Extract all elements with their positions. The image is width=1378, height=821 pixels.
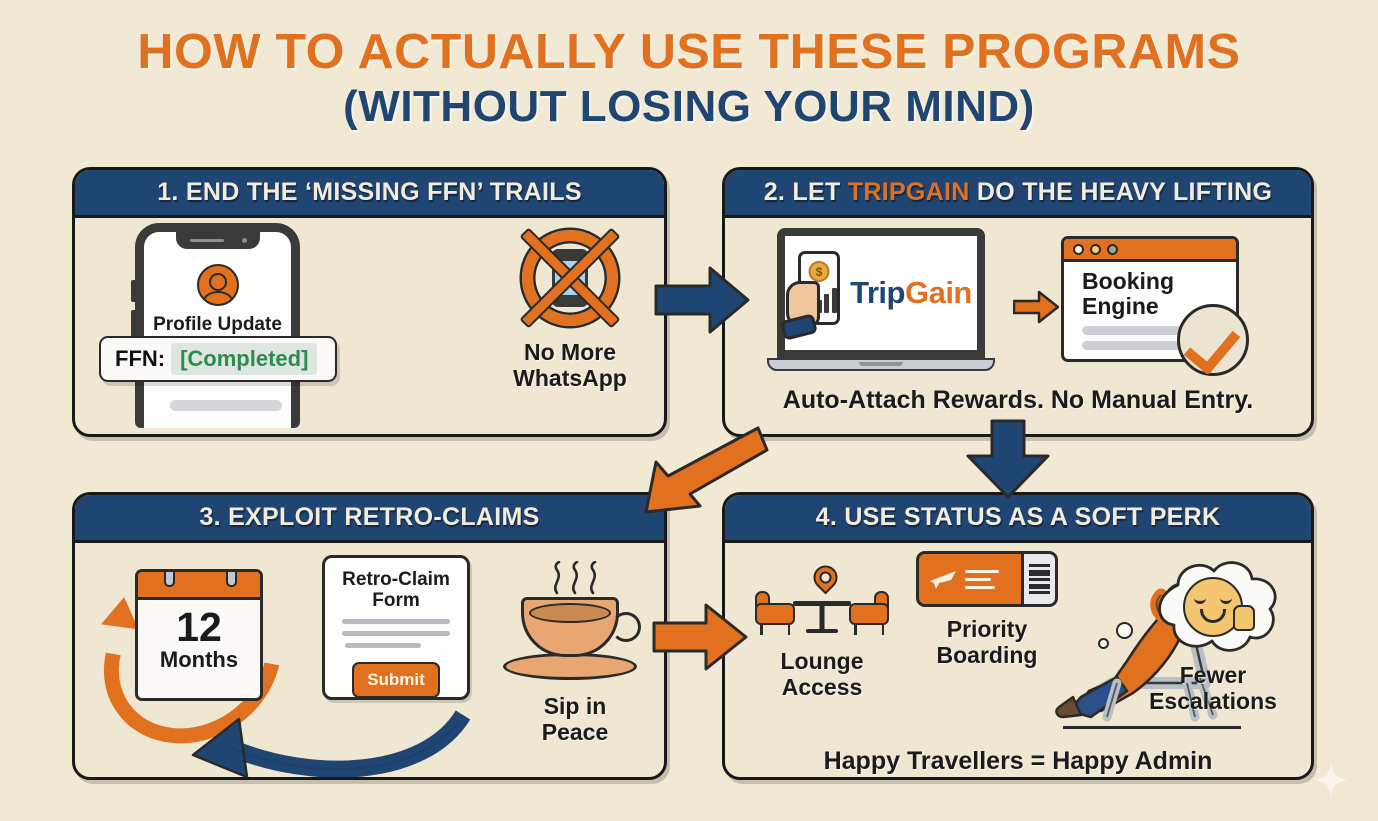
- lounge-icon: [747, 557, 897, 649]
- panel-4-use-status-as-soft-perk[interactable]: 4. USE STATUS AS A SOFT PERK: [722, 492, 1314, 780]
- tripgain-logo-trip: Trip: [850, 275, 905, 310]
- arrow-panel1-to-panel2: [652, 262, 752, 338]
- fewer-escalations-label: Fewer Escalations: [1129, 663, 1297, 715]
- ffn-field-value: [Completed]: [171, 343, 317, 375]
- boarding-pass-icon: [916, 551, 1058, 607]
- steam-icon: [545, 561, 605, 595]
- chair-leg-right-b: [882, 624, 885, 635]
- no-phone-icon: [522, 230, 618, 326]
- phone-placeholder-line: [170, 400, 282, 411]
- hand-holding-phone-icon: $: [790, 251, 844, 335]
- panel-4-body: Lounge Access: [725, 543, 1311, 777]
- checkmark-icon: [1177, 304, 1249, 376]
- infographic-canvas: HOW TO ACTUALLY USE THESE PROGRAMS (WITH…: [0, 0, 1378, 821]
- emoji-smile: [1200, 609, 1226, 623]
- calendar-unit: Months: [138, 648, 260, 672]
- no-whatsapp-group: No More WhatsApp: [475, 230, 665, 392]
- ground-line: [1063, 726, 1241, 729]
- retro-claim-form-title-line2: Form: [325, 590, 467, 611]
- boarding-pass-main: [916, 551, 1024, 607]
- booking-placeholder-line-2: [1082, 341, 1186, 350]
- calendar-ring-2: [226, 569, 237, 587]
- boarding-pass-stub: [1024, 551, 1058, 607]
- location-pin-icon: [809, 561, 843, 595]
- title-line-1: HOW TO ACTUALLY USE THESE PROGRAMS: [0, 26, 1378, 79]
- chair-seat-left: [755, 603, 795, 625]
- priority-boarding-line1: Priority: [897, 617, 1077, 643]
- panel-4-caption: Happy Travellers = Happy Admin: [725, 747, 1311, 776]
- panel-3-exploit-retro-claims[interactable]: 3. EXPLOIT RETRO-CLAIMS 12 Months Retro-…: [72, 492, 667, 780]
- calendar-icon: 12 Months: [135, 569, 263, 701]
- window-title-bar: [1064, 239, 1236, 262]
- thought-bubble-small-1: [1116, 622, 1133, 639]
- cup-handle: [611, 612, 641, 642]
- panel-2-body: $ TripGain: [725, 218, 1311, 434]
- calendar-number: 12: [138, 607, 260, 648]
- emoji-eye-right: [1220, 598, 1232, 604]
- armchair-right: [849, 591, 889, 635]
- title-line-2: (WITHOUT LOSING YOUR MIND): [0, 79, 1378, 134]
- no-whatsapp-label-line1: No More: [475, 340, 665, 366]
- tripgain-logo: TripGain: [850, 275, 972, 311]
- chair-leg-right-a: [854, 624, 857, 635]
- sip-in-peace-line2: Peace: [495, 720, 655, 746]
- panel-3-body: 12 Months Retro-Claim Form Submit: [75, 543, 664, 777]
- arrow-panel2-to-panel3: [630, 424, 770, 520]
- coffee-group: Sip in Peace: [495, 561, 655, 746]
- phone-volume-button: [131, 280, 135, 302]
- fewer-escalations-line2: Escalations: [1129, 689, 1297, 715]
- panel-2-heading-after: DO THE HEAVY LIFTING: [970, 178, 1273, 206]
- chair-leg-left-b: [788, 624, 791, 635]
- fewer-escalations-line1: Fewer: [1129, 663, 1297, 689]
- booking-engine-title-line1: Booking: [1082, 269, 1236, 294]
- arrow-laptop-to-booking: [1013, 290, 1059, 324]
- smiling-thumbs-up-emoji-icon: [1183, 577, 1243, 637]
- chair-leg-left-a: [760, 624, 763, 635]
- no-whatsapp-label-line2: WhatsApp: [475, 366, 665, 392]
- cup: [521, 597, 619, 657]
- sparkle-decoration-icon: [1314, 763, 1348, 797]
- phone-screen-title: Profile Update: [144, 314, 291, 336]
- panel-2-caption: Auto-Attach Rewards. No Manual Entry.: [725, 386, 1311, 415]
- form-field-line-3: [345, 643, 421, 648]
- lounge-access-line1: Lounge: [747, 649, 897, 675]
- window-dot-3: [1107, 244, 1118, 255]
- table-foot: [806, 629, 838, 633]
- arrow-retro-loop: [175, 701, 475, 779]
- lounge-access-line2: Access: [747, 675, 897, 701]
- panel-1-heading: 1. END THE ‘MISSING FFN’ TRAILS: [157, 178, 582, 207]
- calendar-ring-1: [164, 569, 175, 587]
- laptop-screen: $ TripGain: [777, 228, 985, 358]
- coin-icon: $: [809, 261, 830, 282]
- form-field-line-1: [342, 619, 450, 624]
- form-field-line-2: [342, 631, 450, 636]
- panel-1-body: Profile Update FFN: [Completed] No More …: [75, 218, 664, 434]
- submit-button[interactable]: Submit: [352, 662, 440, 698]
- panel-2-heading-before: 2. LET: [764, 178, 848, 206]
- arrow-panel2-down: [962, 418, 1054, 500]
- boarding-pass-lines: [965, 570, 999, 589]
- window-dot-1: [1073, 244, 1084, 255]
- no-whatsapp-label: No More WhatsApp: [475, 340, 665, 392]
- panel-1-end-missing-ffn-trails[interactable]: 1. END THE ‘MISSING FFN’ TRAILS Profile …: [72, 167, 667, 437]
- phone-mockup: Profile Update: [135, 223, 300, 428]
- coffee-cup-icon: [495, 561, 655, 686]
- panel-2-let-tripgain-do-heavy-lifting[interactable]: 2. LET TRIPGAIN DO THE HEAVY LIFTING $: [722, 167, 1314, 437]
- retro-claim-form-title-line1: Retro-Claim: [325, 569, 467, 590]
- ffn-status-chip[interactable]: FFN: [Completed]: [99, 336, 337, 382]
- panel-2-heading-highlight: TRIPGAIN: [848, 178, 970, 206]
- panel-1-header: 1. END THE ‘MISSING FFN’ TRAILS: [75, 170, 664, 218]
- panel-4-header: 4. USE STATUS AS A SOFT PERK: [725, 495, 1311, 543]
- fewer-escalations-group: Fewer Escalations: [1129, 553, 1297, 715]
- laptop-base: [767, 358, 995, 371]
- calendar-header: [138, 572, 260, 600]
- priority-boarding-line2: Boarding: [897, 643, 1077, 669]
- priority-boarding-group: Priority Boarding: [897, 551, 1077, 669]
- armchair-left: [755, 591, 795, 635]
- panel-2-heading: 2. LET TRIPGAIN DO THE HEAVY LIFTING: [764, 178, 1273, 207]
- priority-boarding-label: Priority Boarding: [897, 617, 1077, 669]
- panel-3-header: 3. EXPLOIT RETRO-CLAIMS: [75, 495, 664, 543]
- laptop-mockup: $ TripGain: [767, 228, 995, 371]
- chair-seat-right: [849, 603, 889, 625]
- phone-notch-icon: [176, 232, 260, 249]
- retro-claim-form[interactable]: Retro-Claim Form Submit: [322, 555, 470, 700]
- thumbs-up-icon: [1233, 605, 1255, 631]
- ffn-field-label: FFN:: [115, 346, 165, 372]
- retro-claim-form-title: Retro-Claim Form: [325, 558, 467, 612]
- window-dot-2: [1090, 244, 1101, 255]
- panel-3-heading: 3. EXPLOIT RETRO-CLAIMS: [199, 503, 539, 532]
- page-title: HOW TO ACTUALLY USE THESE PROGRAMS (WITH…: [0, 26, 1378, 134]
- panel-2-header: 2. LET TRIPGAIN DO THE HEAVY LIFTING: [725, 170, 1311, 218]
- lounge-access-label: Lounge Access: [747, 649, 897, 701]
- saucer: [503, 653, 637, 680]
- user-avatar-icon: [197, 264, 239, 306]
- table-stem: [820, 605, 825, 631]
- tripgain-logo-gain: Gain: [905, 275, 972, 310]
- panel-4-heading: 4. USE STATUS AS A SOFT PERK: [816, 503, 1221, 532]
- emoji-eye-left: [1194, 598, 1206, 604]
- arrow-panel3-to-panel4: [650, 600, 750, 674]
- sip-in-peace-line1: Sip in: [495, 694, 655, 720]
- booking-placeholder-line-1: [1082, 326, 1186, 335]
- airplane-icon: [929, 567, 957, 591]
- sip-in-peace-label: Sip in Peace: [495, 694, 655, 746]
- lounge-access-group: Lounge Access: [747, 557, 897, 701]
- thought-bubble-small-2: [1098, 638, 1109, 649]
- thought-bubble-icon: [1138, 553, 1288, 661]
